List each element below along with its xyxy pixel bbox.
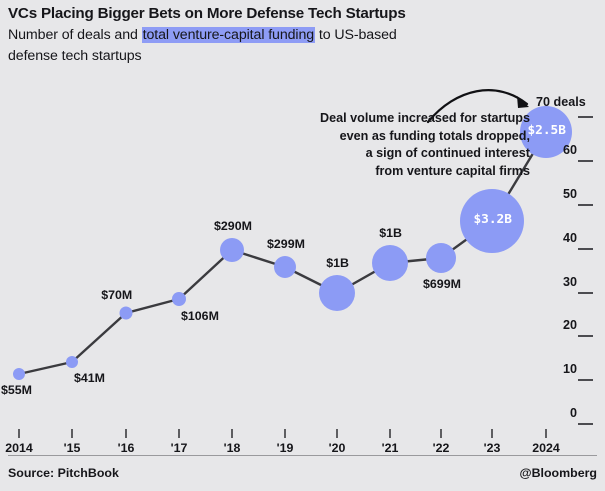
y-axis-label: 20 (563, 318, 577, 332)
data-point-bubble[interactable] (172, 292, 186, 306)
x-axis-label: 2024 (520, 441, 572, 455)
data-point-value-label: $55M (1, 383, 32, 397)
data-point-bubble[interactable] (426, 243, 456, 273)
data-point-bubble[interactable] (13, 368, 25, 380)
subtitle-post: to US-based (315, 27, 397, 43)
x-axis-label: '15 (46, 441, 98, 455)
chart-subtitle-line2: defense tech startups (8, 46, 597, 66)
data-point-value-label: $2.5B (527, 123, 566, 138)
x-axis-label: 2014 (0, 441, 45, 455)
data-point-value-label: $41M (74, 371, 105, 385)
x-axis-label: '22 (415, 441, 467, 455)
y-axis-label: 30 (563, 275, 577, 289)
data-point-bubble[interactable] (120, 307, 133, 320)
chart-subtitle: Number of deals and total venture-capita… (8, 25, 597, 45)
subtitle-pre: Number of deals and (8, 27, 142, 43)
source-label: Source: PitchBook (8, 466, 119, 480)
data-point-value-label: $70M (101, 288, 132, 302)
x-axis-label: '16 (100, 441, 152, 455)
y-axis-label: 40 (563, 231, 577, 245)
data-point-value-label: $1B (379, 226, 402, 240)
data-point-value-label: $1B (326, 256, 349, 270)
data-point-value-label: $290M (214, 219, 252, 233)
data-point-value-label: $3.2B (473, 212, 512, 227)
data-point-bubble[interactable] (274, 256, 296, 278)
data-point-value-label: $106M (181, 309, 219, 323)
x-axis-label: '19 (259, 441, 311, 455)
x-axis-label: '23 (466, 441, 518, 455)
data-point-bubble[interactable] (319, 275, 355, 311)
y-axis-label: 10 (563, 362, 577, 376)
chart-page: VCs Placing Bigger Bets on More Defense … (0, 0, 605, 491)
data-point-bubble[interactable] (66, 356, 78, 368)
x-axis-label: '18 (206, 441, 258, 455)
annotation-arrow-head (517, 96, 529, 108)
chart-header: VCs Placing Bigger Bets on More Defense … (8, 4, 597, 66)
x-axis-label: '17 (153, 441, 205, 455)
chart-annotation-text: Deal volume increased for startups even … (280, 110, 530, 180)
y-axis-label: 60 (563, 143, 577, 157)
data-point-value-label: $299M (267, 237, 305, 251)
data-point-bubble[interactable] (220, 238, 244, 262)
page-title: VCs Placing Bigger Bets on More Defense … (8, 4, 597, 24)
data-point-bubble[interactable] (372, 245, 408, 281)
data-point-value-label: $699M (423, 277, 461, 291)
subtitle-highlight: total venture-capital funding (142, 27, 315, 43)
y-axis-label: 50 (563, 187, 577, 201)
footer-divider (8, 455, 597, 456)
x-axis-label: '21 (364, 441, 416, 455)
x-axis-label: '20 (311, 441, 363, 455)
brand-label: @Bloomberg (520, 466, 597, 480)
y-axis-label: 70 deals (536, 95, 586, 109)
y-axis-label: 0 (570, 406, 577, 420)
